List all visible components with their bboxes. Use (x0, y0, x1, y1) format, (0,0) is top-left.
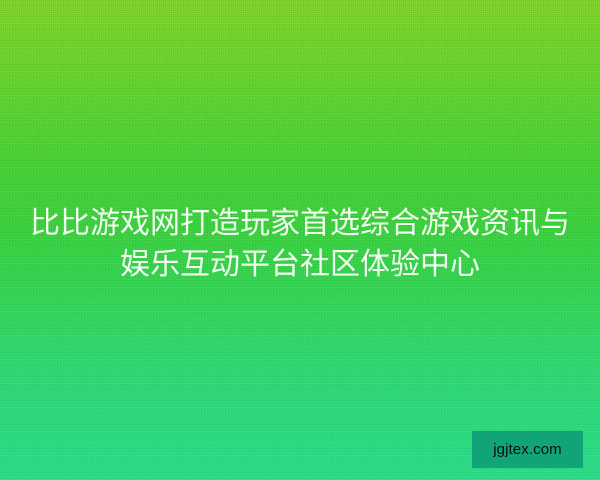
banner-headline-line-1: 比比游戏网打造玩家首选综合游戏资讯与 (0, 203, 600, 244)
promo-banner: 比比游戏网打造玩家首选综合游戏资讯与 娱乐互动平台社区体验中心 jgjtex.c… (0, 0, 600, 480)
watermark-badge: jgjtex.com (472, 431, 583, 468)
banner-headline: 比比游戏网打造玩家首选综合游戏资讯与 娱乐互动平台社区体验中心 (0, 203, 600, 285)
banner-headline-line-2: 娱乐互动平台社区体验中心 (0, 244, 600, 285)
watermark-domain-label: jgjtex.com (493, 442, 562, 457)
